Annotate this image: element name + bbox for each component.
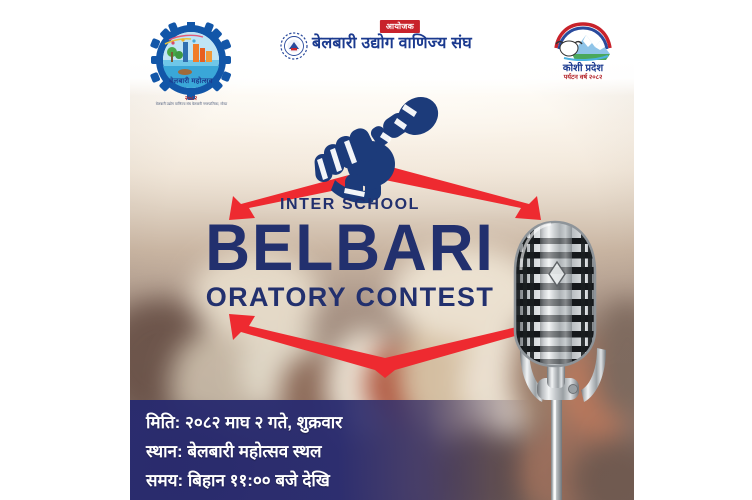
event-details-band: मिति: २०८२ माघ २ गते, शुक्रवार स्थान: बे…	[130, 400, 530, 500]
province-subtitle: पर्यटन वर्ष २०८२	[542, 72, 624, 81]
event-venue: स्थान: बेलबारी महोत्सव स्थल	[130, 437, 530, 466]
organizer-logo: आयोजक बेलबारी उद्योग वाणिज्य संघ	[280, 20, 502, 68]
koshi-pradesh-logo: कोशी प्रदेश पर्यटन वर्ष २०८२	[542, 18, 624, 90]
festival-subtitle: बेलबारी उद्योग वाणिज्य संघ बेलबारी नगरपा…	[143, 102, 240, 107]
mountain-yak-icon	[542, 18, 624, 64]
organizer-name: बेलबारी उद्योग वाणिज्य संघ	[312, 33, 502, 55]
event-date: मिति: २०८२ माघ २ गते, शुक्रवार	[130, 408, 530, 437]
event-poster: बेलबारी महोत्सव २०८२ बेलबारी उद्योग वाणि…	[130, 0, 634, 500]
fist-holding-microphone-icon	[305, 88, 445, 208]
belbari-mahotsav-logo: बेलबारी महोत्सव २०८२ बेलबारी उद्योग वाणि…	[143, 22, 240, 118]
organization-seal-icon	[280, 32, 308, 60]
event-time: समय: बिहान ११:०० बजे देखि	[130, 466, 530, 495]
poster-canvas: बेलबारी महोत्सव २०८२ बेलबारी उद्योग वाणि…	[0, 0, 752, 500]
festival-year: २०८२	[151, 94, 231, 102]
organizer-tag: आयोजक	[380, 20, 420, 33]
